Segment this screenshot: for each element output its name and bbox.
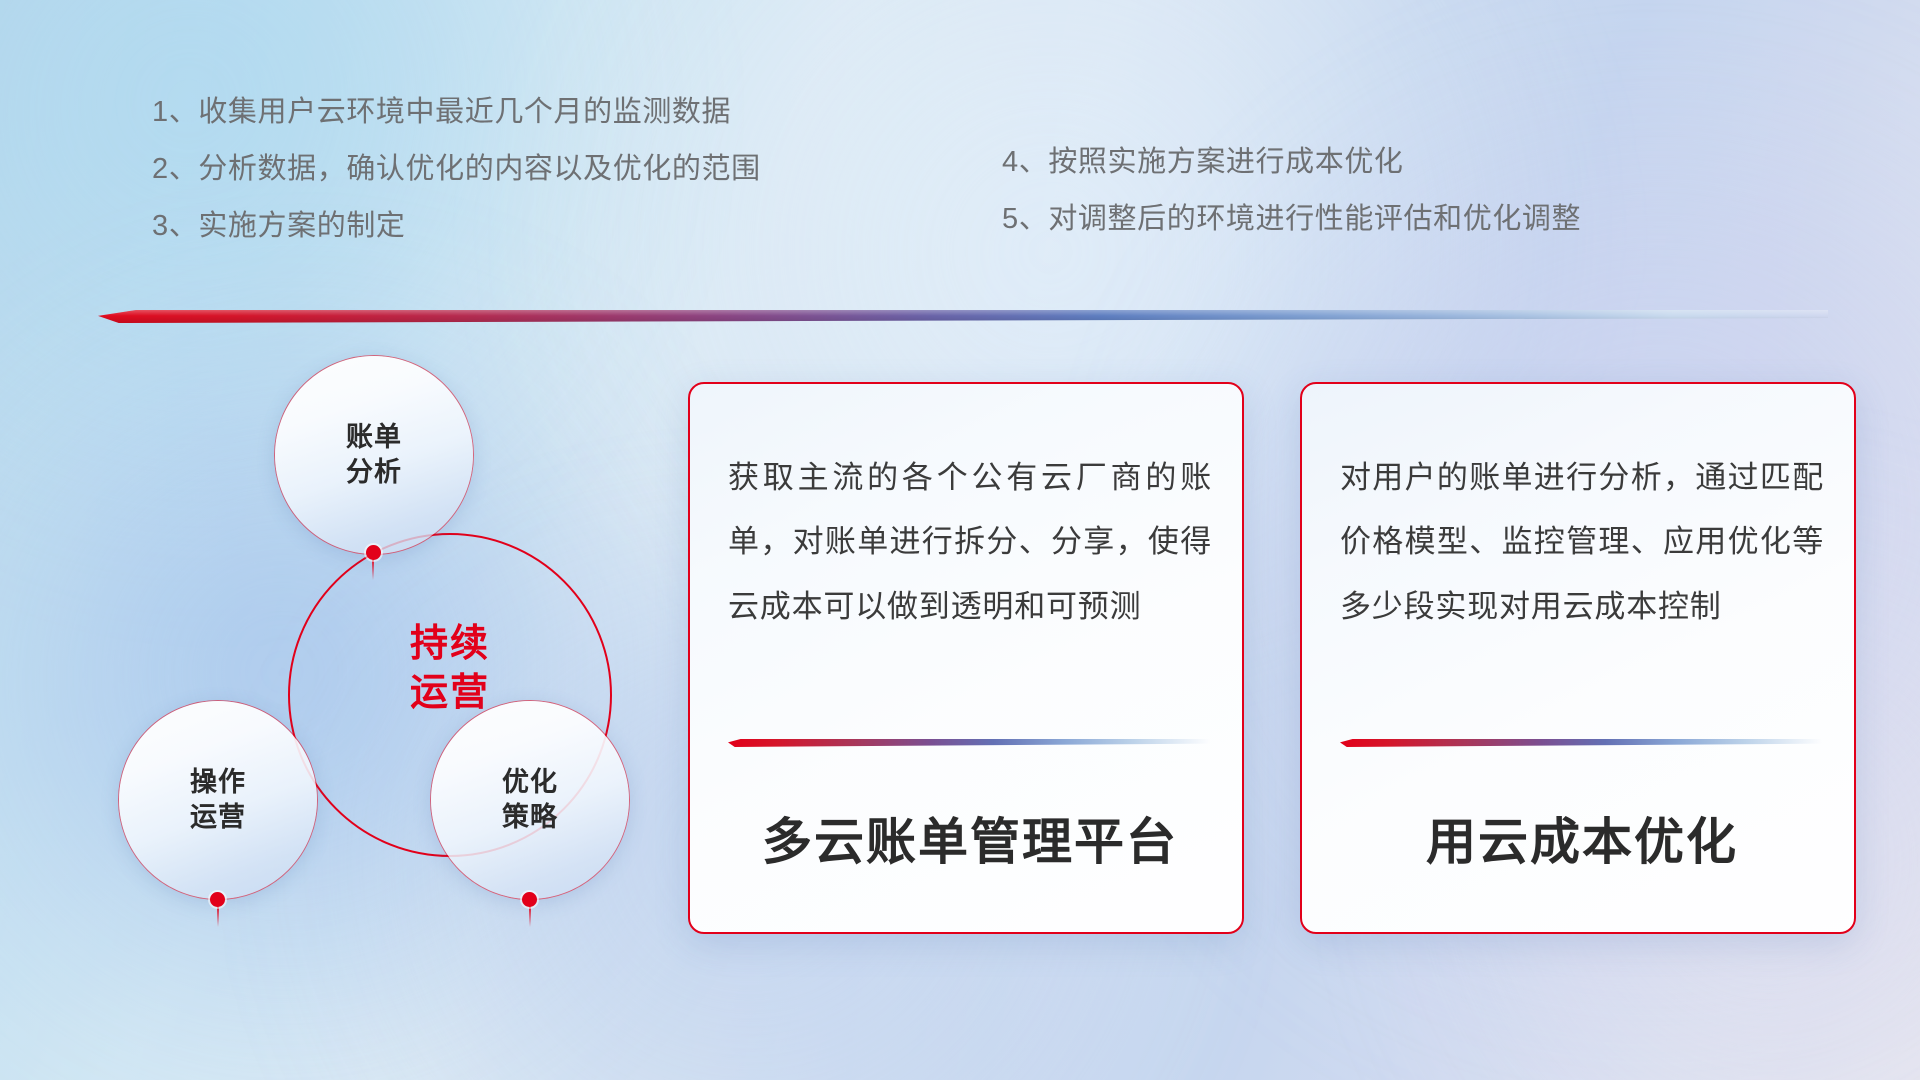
process-step-item: 2、分析数据，确认优化的内容以及优化的范围 [152,155,761,184]
process-step-item: 3、实施方案的制定 [152,212,761,241]
venn-node-stem [372,558,374,580]
feature-card-body: 对用户的账单进行分析，通过匹配价格模型、监控管理、应用优化等多少段实现对用云成本… [1340,446,1824,639]
venn-bubble-label: 优化 策略 [502,765,558,834]
feature-card-title: 多云账单管理平台 [728,802,1212,874]
venn-node-dot [210,892,225,907]
process-step-list-right-column: 4、按照实施方案进行成本优化 5、对调整后的环境进行性能评估和优化调整 [1002,148,1581,262]
venn-bubble-label-line1: 账单 [346,420,402,455]
feature-card-multicloud-billing[interactable]: 获取主流的各个公有云厂商的账单，对账单进行拆分、分享，使得云成本可以做到透明和可… [688,382,1244,934]
feature-card-body: 获取主流的各个公有云厂商的账单，对账单进行拆分、分享，使得云成本可以做到透明和可… [728,446,1212,639]
venn-bubble-bill-analysis[interactable]: 账单 分析 [274,355,474,555]
venn-center-label-line1: 持续 [288,620,612,669]
venn-bubble-label-line1: 优化 [502,765,558,800]
process-step-list: 1、收集用户云环境中最近几个月的监测数据 2、分析数据，确认优化的内容以及优化的… [0,0,1920,300]
feature-card-cost-optimization[interactable]: 对用户的账单进行分析，通过匹配价格模型、监控管理、应用优化等多少段实现对用云成本… [1300,382,1856,934]
venn-bubble-label-line1: 操作 [190,765,246,800]
process-step-item: 1、收集用户云环境中最近几个月的监测数据 [152,98,761,127]
venn-bubble-operations[interactable]: 操作 运营 [118,700,318,900]
venn-bubble-optimization-strategy[interactable]: 优化 策略 [430,700,630,900]
venn-bubble-label-line2: 策略 [502,800,558,835]
venn-node-dot [366,545,381,560]
feature-card-divider [1340,739,1822,747]
process-step-item: 4、按照实施方案进行成本优化 [1002,148,1581,177]
venn-diagram: 持续 运营 账单 分析 操作 运营 优化 策略 [100,355,660,945]
venn-bubble-label-line2: 分析 [346,455,402,490]
process-step-item: 5、对调整后的环境进行性能评估和优化调整 [1002,205,1581,234]
venn-node-stem [529,905,531,927]
venn-bubble-label: 账单 分析 [346,420,402,489]
feature-card-title: 用云成本优化 [1340,802,1824,874]
feature-card-divider [728,739,1210,747]
process-step-list-left-column: 1、收集用户云环境中最近几个月的监测数据 2、分析数据，确认优化的内容以及优化的… [152,98,761,269]
venn-bubble-label: 操作 运营 [190,765,246,834]
venn-bubble-label-line2: 运营 [190,800,246,835]
venn-node-dot [522,892,537,907]
venn-center-label: 持续 运营 [288,620,612,717]
section-divider-shade [98,310,1828,323]
section-divider [98,310,1828,323]
venn-node-stem [217,905,219,927]
